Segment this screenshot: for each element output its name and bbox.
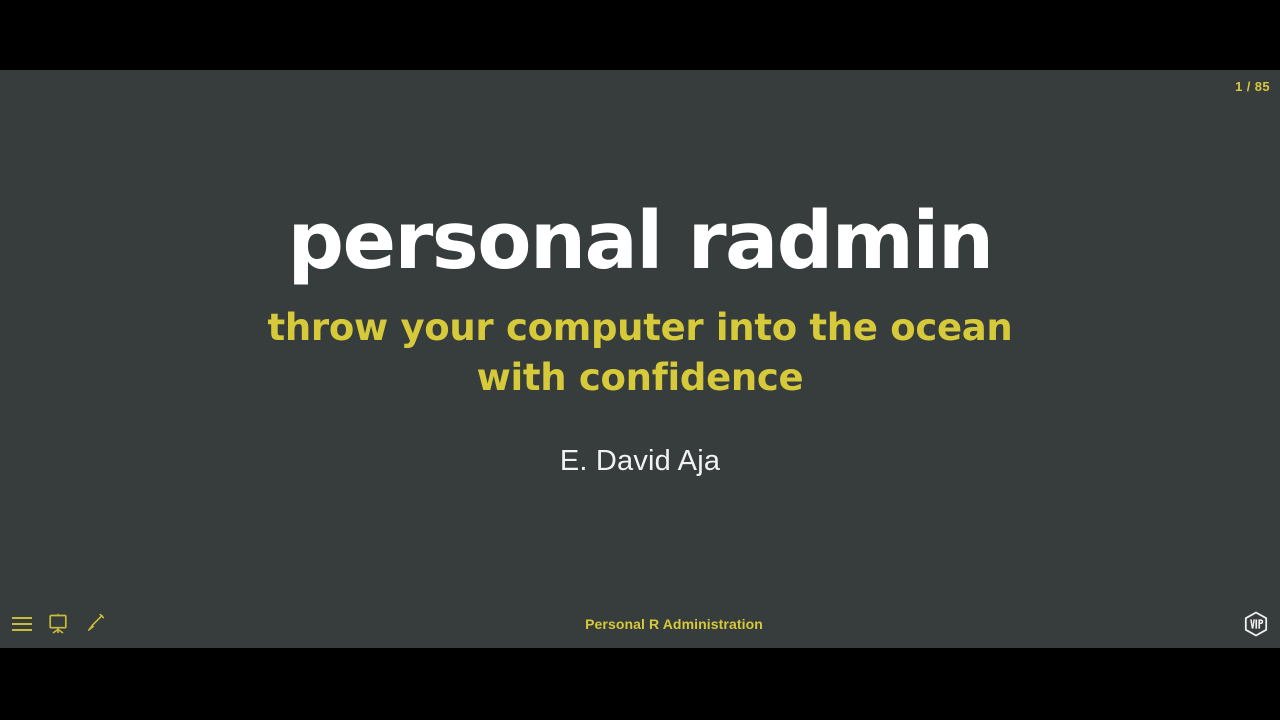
letterbox-bottom — [0, 648, 1280, 720]
presentation-viewport: 1 / 85 personal radmin throw your comput… — [0, 0, 1280, 720]
slide-footer: Personal R Administration — [0, 600, 1280, 648]
slide-subtitle-line-2: with confidence — [268, 353, 1013, 403]
easel-icon[interactable] — [46, 612, 70, 636]
footer-caption: Personal R Administration — [106, 616, 1242, 632]
slide-author: E. David Aja — [560, 445, 720, 478]
slide-subtitle: throw your computer into the ocean with … — [268, 303, 1013, 404]
slide-canvas[interactable]: 1 / 85 personal radmin throw your comput… — [0, 70, 1280, 648]
menu-icon[interactable] — [10, 612, 34, 636]
slide-subtitle-line-1: throw your computer into the ocean — [268, 303, 1013, 353]
slide-title: personal radmin — [288, 202, 993, 281]
footer-toolbar — [10, 612, 106, 636]
letterbox-top — [0, 0, 1280, 70]
slide-content: personal radmin throw your computer into… — [0, 70, 1280, 610]
brand-logo-icon[interactable] — [1242, 610, 1270, 638]
pen-icon[interactable] — [82, 612, 106, 636]
